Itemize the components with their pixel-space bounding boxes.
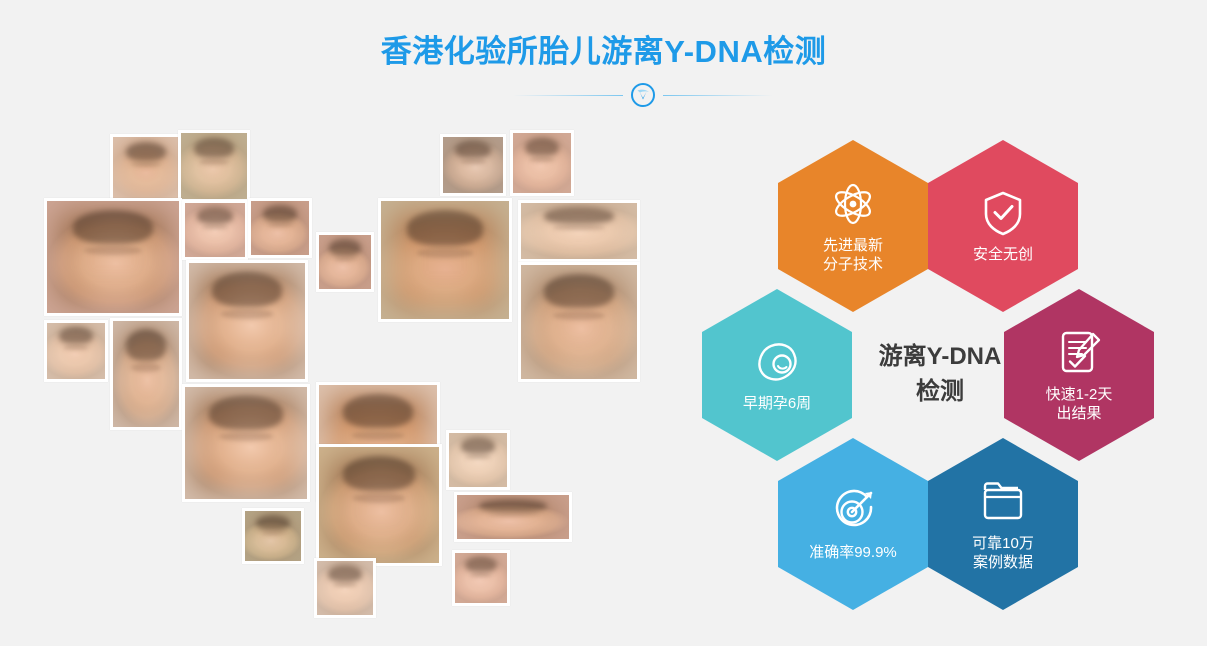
infographic-page: 香港化验所胎儿游离Y-DNA检测 (0, 0, 1207, 646)
baby-photo (518, 200, 640, 262)
baby-photo (316, 444, 442, 566)
hexagon-data-label: 可靠10万 案例数据 (964, 534, 1042, 572)
baby-photo (44, 198, 182, 316)
hexagon-safe-label: 安全无创 (965, 245, 1041, 264)
atom-icon (827, 178, 879, 230)
target-arrow-icon (827, 485, 879, 537)
baby-photo (44, 320, 108, 382)
circle-swoosh-logo-icon (630, 82, 656, 108)
folder-icon (977, 476, 1029, 528)
divider-line-right (663, 95, 773, 96)
document-pencil-icon (1053, 327, 1105, 379)
center-caption-line-2: 检测 (916, 375, 964, 410)
hexagon-tech[interactable]: 先进最新 分子技术 (778, 140, 928, 312)
baby-photo (242, 508, 304, 564)
baby-photo (378, 198, 512, 322)
baby-photo-collage (0, 110, 670, 630)
hexagon-feature-diagram: 先进最新 分子技术 安全无创 早期孕6周 (660, 130, 1207, 620)
diagram-center-caption: 游离Y-DNA 检测 (840, 315, 1040, 435)
hexagon-early-label: 早期孕6周 (735, 394, 819, 413)
baby-photo (452, 550, 510, 606)
title-divider (503, 83, 783, 107)
baby-photo (182, 200, 248, 260)
hexagon-tech-label: 先进最新 分子技术 (815, 236, 891, 274)
hexagon-safe[interactable]: 安全无创 (928, 140, 1078, 312)
baby-photo (110, 318, 182, 430)
baby-photo (518, 262, 640, 382)
hexagon-accuracy-label: 准确率99.9% (801, 543, 905, 562)
shield-check-icon (977, 187, 1029, 239)
baby-photo (110, 134, 182, 202)
baby-photo (446, 430, 510, 490)
hexagon-accuracy[interactable]: 准确率99.9% (778, 438, 928, 610)
page-title: 香港化验所胎儿游离Y-DNA检测 (0, 26, 1207, 71)
baby-photo (454, 492, 572, 542)
center-caption-line-1: 游离Y-DNA (879, 340, 1002, 375)
hexagon-early[interactable]: 早期孕6周 (702, 289, 852, 461)
baby-photo (440, 134, 506, 196)
hexagon-fast-label: 快速1-2天 出结果 (1038, 385, 1121, 423)
baby-photo (178, 130, 250, 202)
egg-cell-icon (751, 336, 803, 388)
baby-photo (186, 260, 308, 382)
baby-photo (182, 384, 310, 502)
baby-photo (510, 130, 574, 196)
divider-line-left (513, 95, 623, 96)
baby-photo (314, 558, 376, 618)
header: 香港化验所胎儿游离Y-DNA检测 (0, 0, 1207, 115)
baby-photo (316, 232, 374, 292)
hexagon-data[interactable]: 可靠10万 案例数据 (928, 438, 1078, 610)
baby-photo (248, 198, 312, 258)
